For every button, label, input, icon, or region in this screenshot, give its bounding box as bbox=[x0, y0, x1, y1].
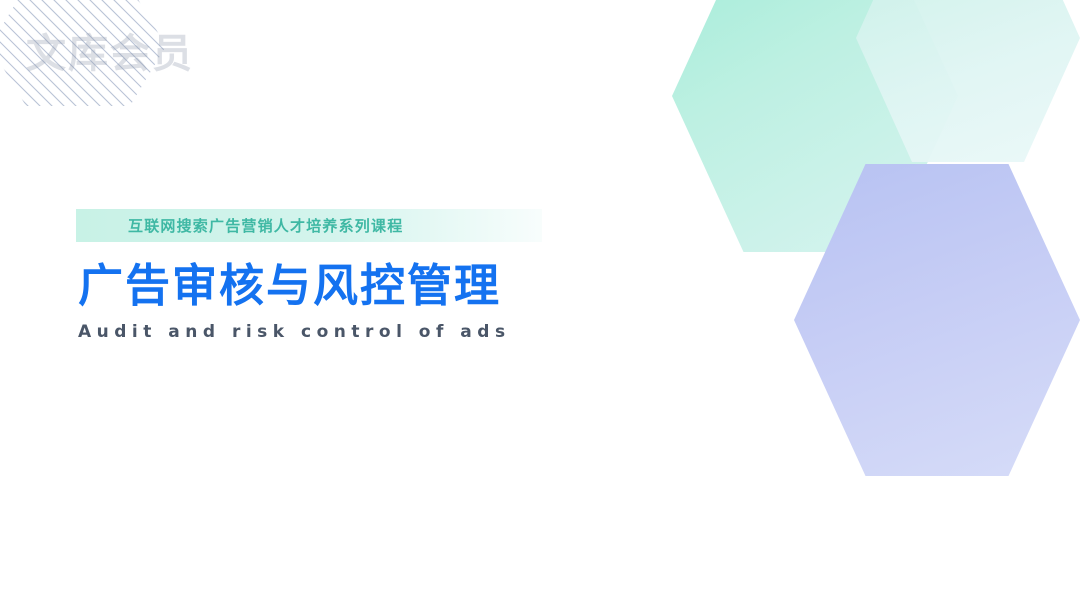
page-title: 广告审核与风控管理 bbox=[78, 258, 501, 314]
presentation-slide: 文库会员 互联网搜索广告营销人才培养系列课程 广告审核与风控管理 Audit a… bbox=[0, 0, 1080, 607]
watermark-text: 文库会员 bbox=[26, 28, 206, 80]
english-subtitle: Audit and risk control of ads bbox=[78, 322, 511, 342]
subtitle-banner: 互联网搜索广告营销人才培养系列课程 bbox=[76, 209, 542, 242]
subtitle-text: 互联网搜索广告营销人才培养系列课程 bbox=[76, 215, 403, 236]
